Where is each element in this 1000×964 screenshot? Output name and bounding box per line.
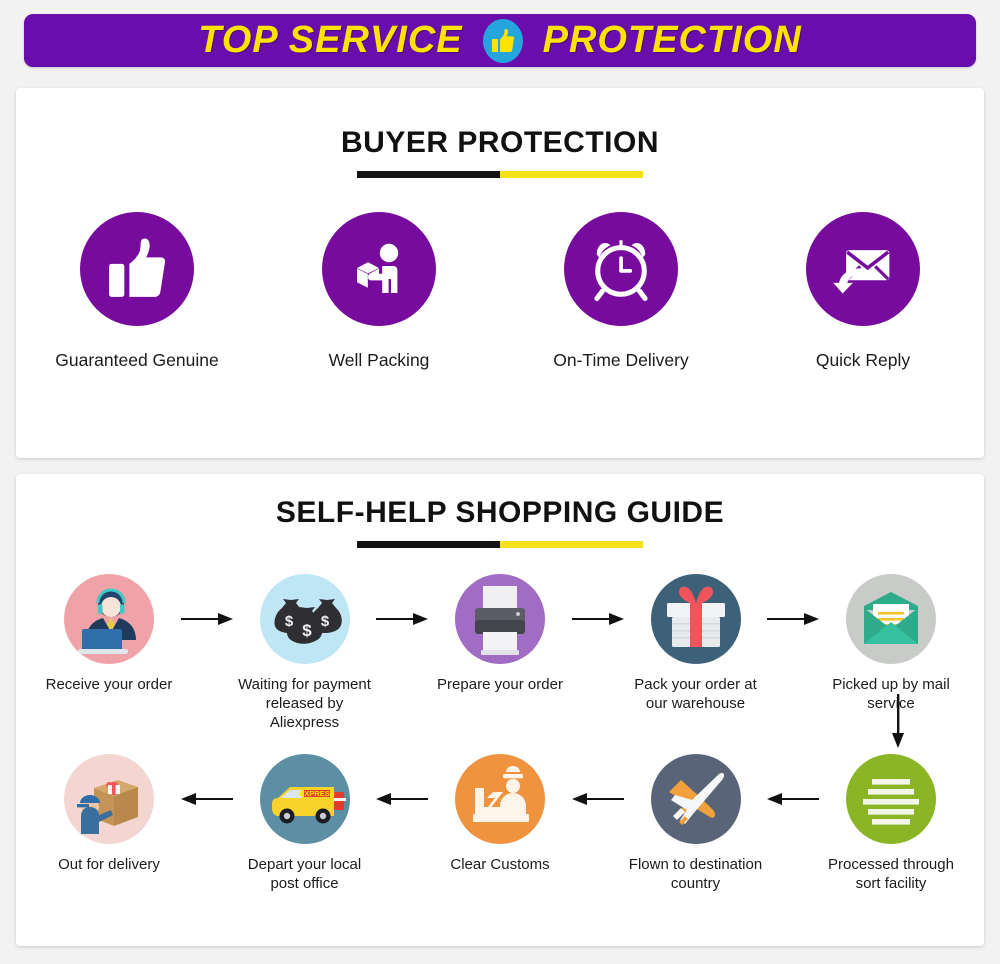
arrow-left-icon <box>174 754 240 844</box>
buyer-protection-card: BUYER PROTECTION Guaranteed Genuine <box>16 88 984 458</box>
sort-facility-icon <box>846 754 936 844</box>
money-bags-icon: $ $ $ <box>260 574 350 664</box>
arrow-down-icon <box>878 692 918 750</box>
underline-left <box>357 171 500 178</box>
flow-step-flown-to-destination: Flown to destination country <box>631 754 761 893</box>
shopping-guide-heading: SELF-HELP SHOPPING GUIDE <box>16 474 984 548</box>
banner-title-right: PROTECTION <box>543 19 802 62</box>
banner-title-left: TOP SERVICE <box>198 19 462 62</box>
arrow-right-icon <box>761 574 827 664</box>
buyer-protection-item-quick-reply: Quick Reply <box>742 212 984 371</box>
arrow-right-icon <box>370 574 436 664</box>
shopping-guide-row-2: Out for delivery EXPRESS <box>44 754 956 893</box>
arrow-right-icon <box>174 574 240 664</box>
flow-step-depart-local-post-office: EXPRESS Depart your local post office <box>240 754 370 893</box>
page-title: SELF-HELP SHOPPING GUIDE <box>16 496 984 530</box>
flow-step-label: Flown to destination country <box>626 855 766 893</box>
underline-right <box>500 171 643 178</box>
svg-text:$: $ <box>302 621 312 640</box>
envelope-reply-icon <box>806 212 920 326</box>
arrow-right-icon <box>565 574 631 664</box>
arrow-left-icon <box>370 754 436 844</box>
flow-step-label: Prepare your order <box>430 675 570 694</box>
flow-step-processed-through-sort-facility: Processed through sort facility <box>826 754 956 893</box>
arrow-left-icon <box>565 754 631 844</box>
express-van-icon: EXPRESS <box>260 754 350 844</box>
shopping-guide-row-1: Receive your order $ $ <box>44 574 956 732</box>
flow-step-clear-customs: Clear Customs <box>435 754 565 874</box>
thumbs-up-icon <box>80 212 194 326</box>
page-title: BUYER PROTECTION <box>16 126 984 160</box>
arrow-left-icon <box>761 754 827 844</box>
underline-left <box>357 541 500 548</box>
flow-step-label: Receive your order <box>39 675 179 694</box>
buyer-protection-item-label: On-Time Delivery <box>553 350 688 371</box>
flow-step-label: Pack your order at our warehouse <box>626 675 766 713</box>
top-service-banner: TOP SERVICE PROTECTION <box>24 14 976 67</box>
flow-step-label: Processed through sort facility <box>821 855 961 893</box>
open-envelope-icon <box>846 574 936 664</box>
underline-right <box>500 541 643 548</box>
flow-step-receive-your-order: Receive your order <box>44 574 174 694</box>
customs-officer-icon <box>455 754 545 844</box>
buyer-protection-items: Guaranteed Genuine Well Packing <box>16 212 984 371</box>
buyer-protection-item-well-packing: Well Packing <box>258 212 500 371</box>
alarm-clock-icon <box>564 212 678 326</box>
printer-icon <box>455 574 545 664</box>
flow-step-waiting-for-payment: $ $ $ Waiting for payment released by Al… <box>240 574 370 732</box>
buyer-protection-heading: BUYER PROTECTION <box>16 88 984 178</box>
svg-text:EXPRESS: EXPRESS <box>299 789 334 798</box>
courier-with-box-icon <box>64 754 154 844</box>
shopping-guide-card: SELF-HELP SHOPPING GUIDE <box>16 474 984 946</box>
buyer-protection-item-label: Well Packing <box>329 350 430 371</box>
flow-step-label: Waiting for payment released by Aliexpre… <box>235 675 375 732</box>
svg-text:$: $ <box>320 613 329 630</box>
customer-service-agent-icon <box>64 574 154 664</box>
person-packing-box-icon <box>322 212 436 326</box>
title-underline <box>357 541 643 548</box>
buyer-protection-item-label: Quick Reply <box>816 350 910 371</box>
flow-step-pack-your-order: Pack your order at our warehouse <box>631 574 761 713</box>
buyer-protection-item-guaranteed-genuine: Guaranteed Genuine <box>16 212 258 371</box>
buyer-protection-item-label: Guaranteed Genuine <box>55 350 218 371</box>
title-underline <box>357 171 643 178</box>
flow-step-label: Clear Customs <box>430 855 570 874</box>
airplane-icon <box>651 754 741 844</box>
flow-step-out-for-delivery: Out for delivery <box>44 754 174 874</box>
promo-banner-page: TOP SERVICE PROTECTION BUYER PROTECTION <box>0 0 1000 964</box>
svg-text:$: $ <box>284 613 293 630</box>
flow-step-prepare-your-order: Prepare your order <box>435 574 565 694</box>
buyer-protection-item-on-time-delivery: On-Time Delivery <box>500 212 742 371</box>
gift-box-icon <box>651 574 741 664</box>
thumbs-up-icon <box>483 19 523 63</box>
flow-step-label: Out for delivery <box>39 855 179 874</box>
flow-step-label: Depart your local post office <box>235 855 375 893</box>
